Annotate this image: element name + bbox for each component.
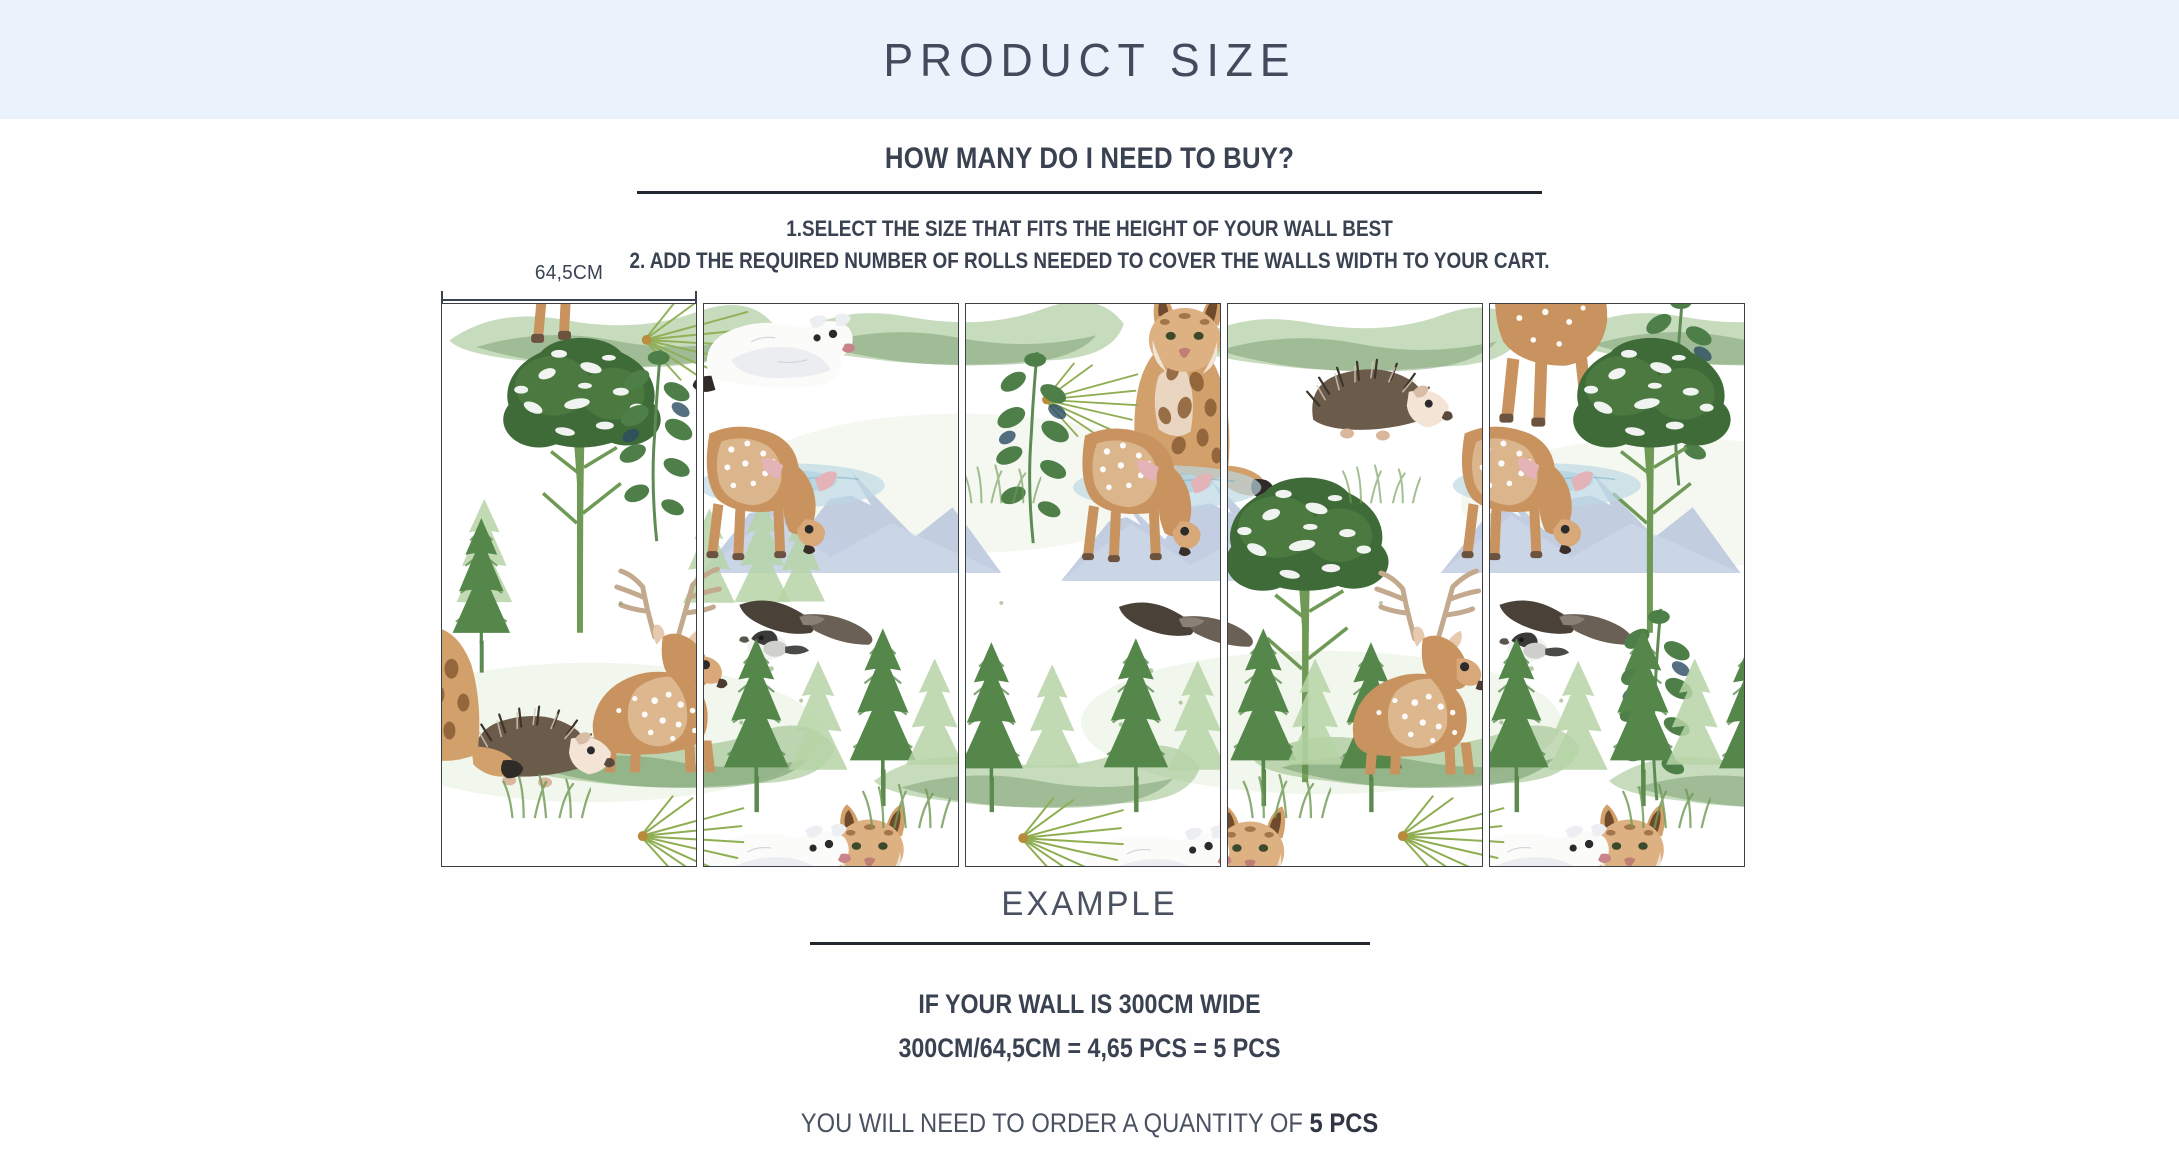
product-size-page: PRODUCT SIZE HOW MANY DO I NEED TO BUY? … (0, 0, 2179, 1165)
page-title: PRODUCT SIZE (883, 33, 1296, 87)
example-note-prefix: YOU WILL NEED TO ORDER A QUANTITY OF (801, 1108, 1310, 1138)
example-title: EXAMPLE (33, 885, 2147, 924)
roll-panel-1[interactable] (441, 303, 697, 867)
intro-heading: HOW MANY DO I NEED TO BUY? (153, 142, 2027, 176)
example-line-2: 300CM/64,5CM = 4,65 PCS = 5 PCS (153, 1026, 2027, 1070)
roll-panel-5-art (1490, 304, 1744, 866)
example-order-note: YOU WILL NEED TO ORDER A QUANTITY OF 5 P… (131, 1108, 2049, 1139)
roll-panel-2[interactable] (703, 303, 959, 867)
wallpaper-panel-strip (441, 303, 1735, 867)
roll-panel-3[interactable] (965, 303, 1221, 867)
intro-step-1: 1.SELECT THE SIZE THAT FITS THE HEIGHT O… (153, 213, 2027, 245)
example-divider (810, 942, 1370, 945)
roll-panel-5[interactable] (1489, 303, 1745, 867)
example-line-1: IF YOUR WALL IS 300CM WIDE (153, 982, 2027, 1026)
roll-panel-1-art (442, 304, 696, 866)
intro-step-2: 2. ADD THE REQUIRED NUMBER OF ROLLS NEED… (153, 245, 2027, 277)
intro-section: HOW MANY DO I NEED TO BUY? 1.SELECT THE … (0, 119, 2179, 277)
roll-panel-4[interactable] (1227, 303, 1483, 867)
example-note-value: 5 PCS (1310, 1108, 1379, 1138)
roll-panel-3-art (966, 304, 1220, 866)
roll-panel-4-art (1228, 304, 1482, 866)
intro-steps: 1.SELECT THE SIZE THAT FITS THE HEIGHT O… (0, 213, 2179, 277)
measure-line (441, 299, 697, 301)
example-section: EXAMPLE IF YOUR WALL IS 300CM WIDE 300CM… (0, 885, 2179, 1139)
header-band: PRODUCT SIZE (0, 0, 2179, 119)
roll-panel-2-art (704, 304, 958, 866)
example-calculation: IF YOUR WALL IS 300CM WIDE 300CM/64,5CM … (0, 982, 2179, 1070)
intro-divider (637, 191, 1542, 194)
roll-width-label: 64,5CM (447, 262, 690, 285)
roll-width-measure: 64,5CM (441, 262, 697, 309)
